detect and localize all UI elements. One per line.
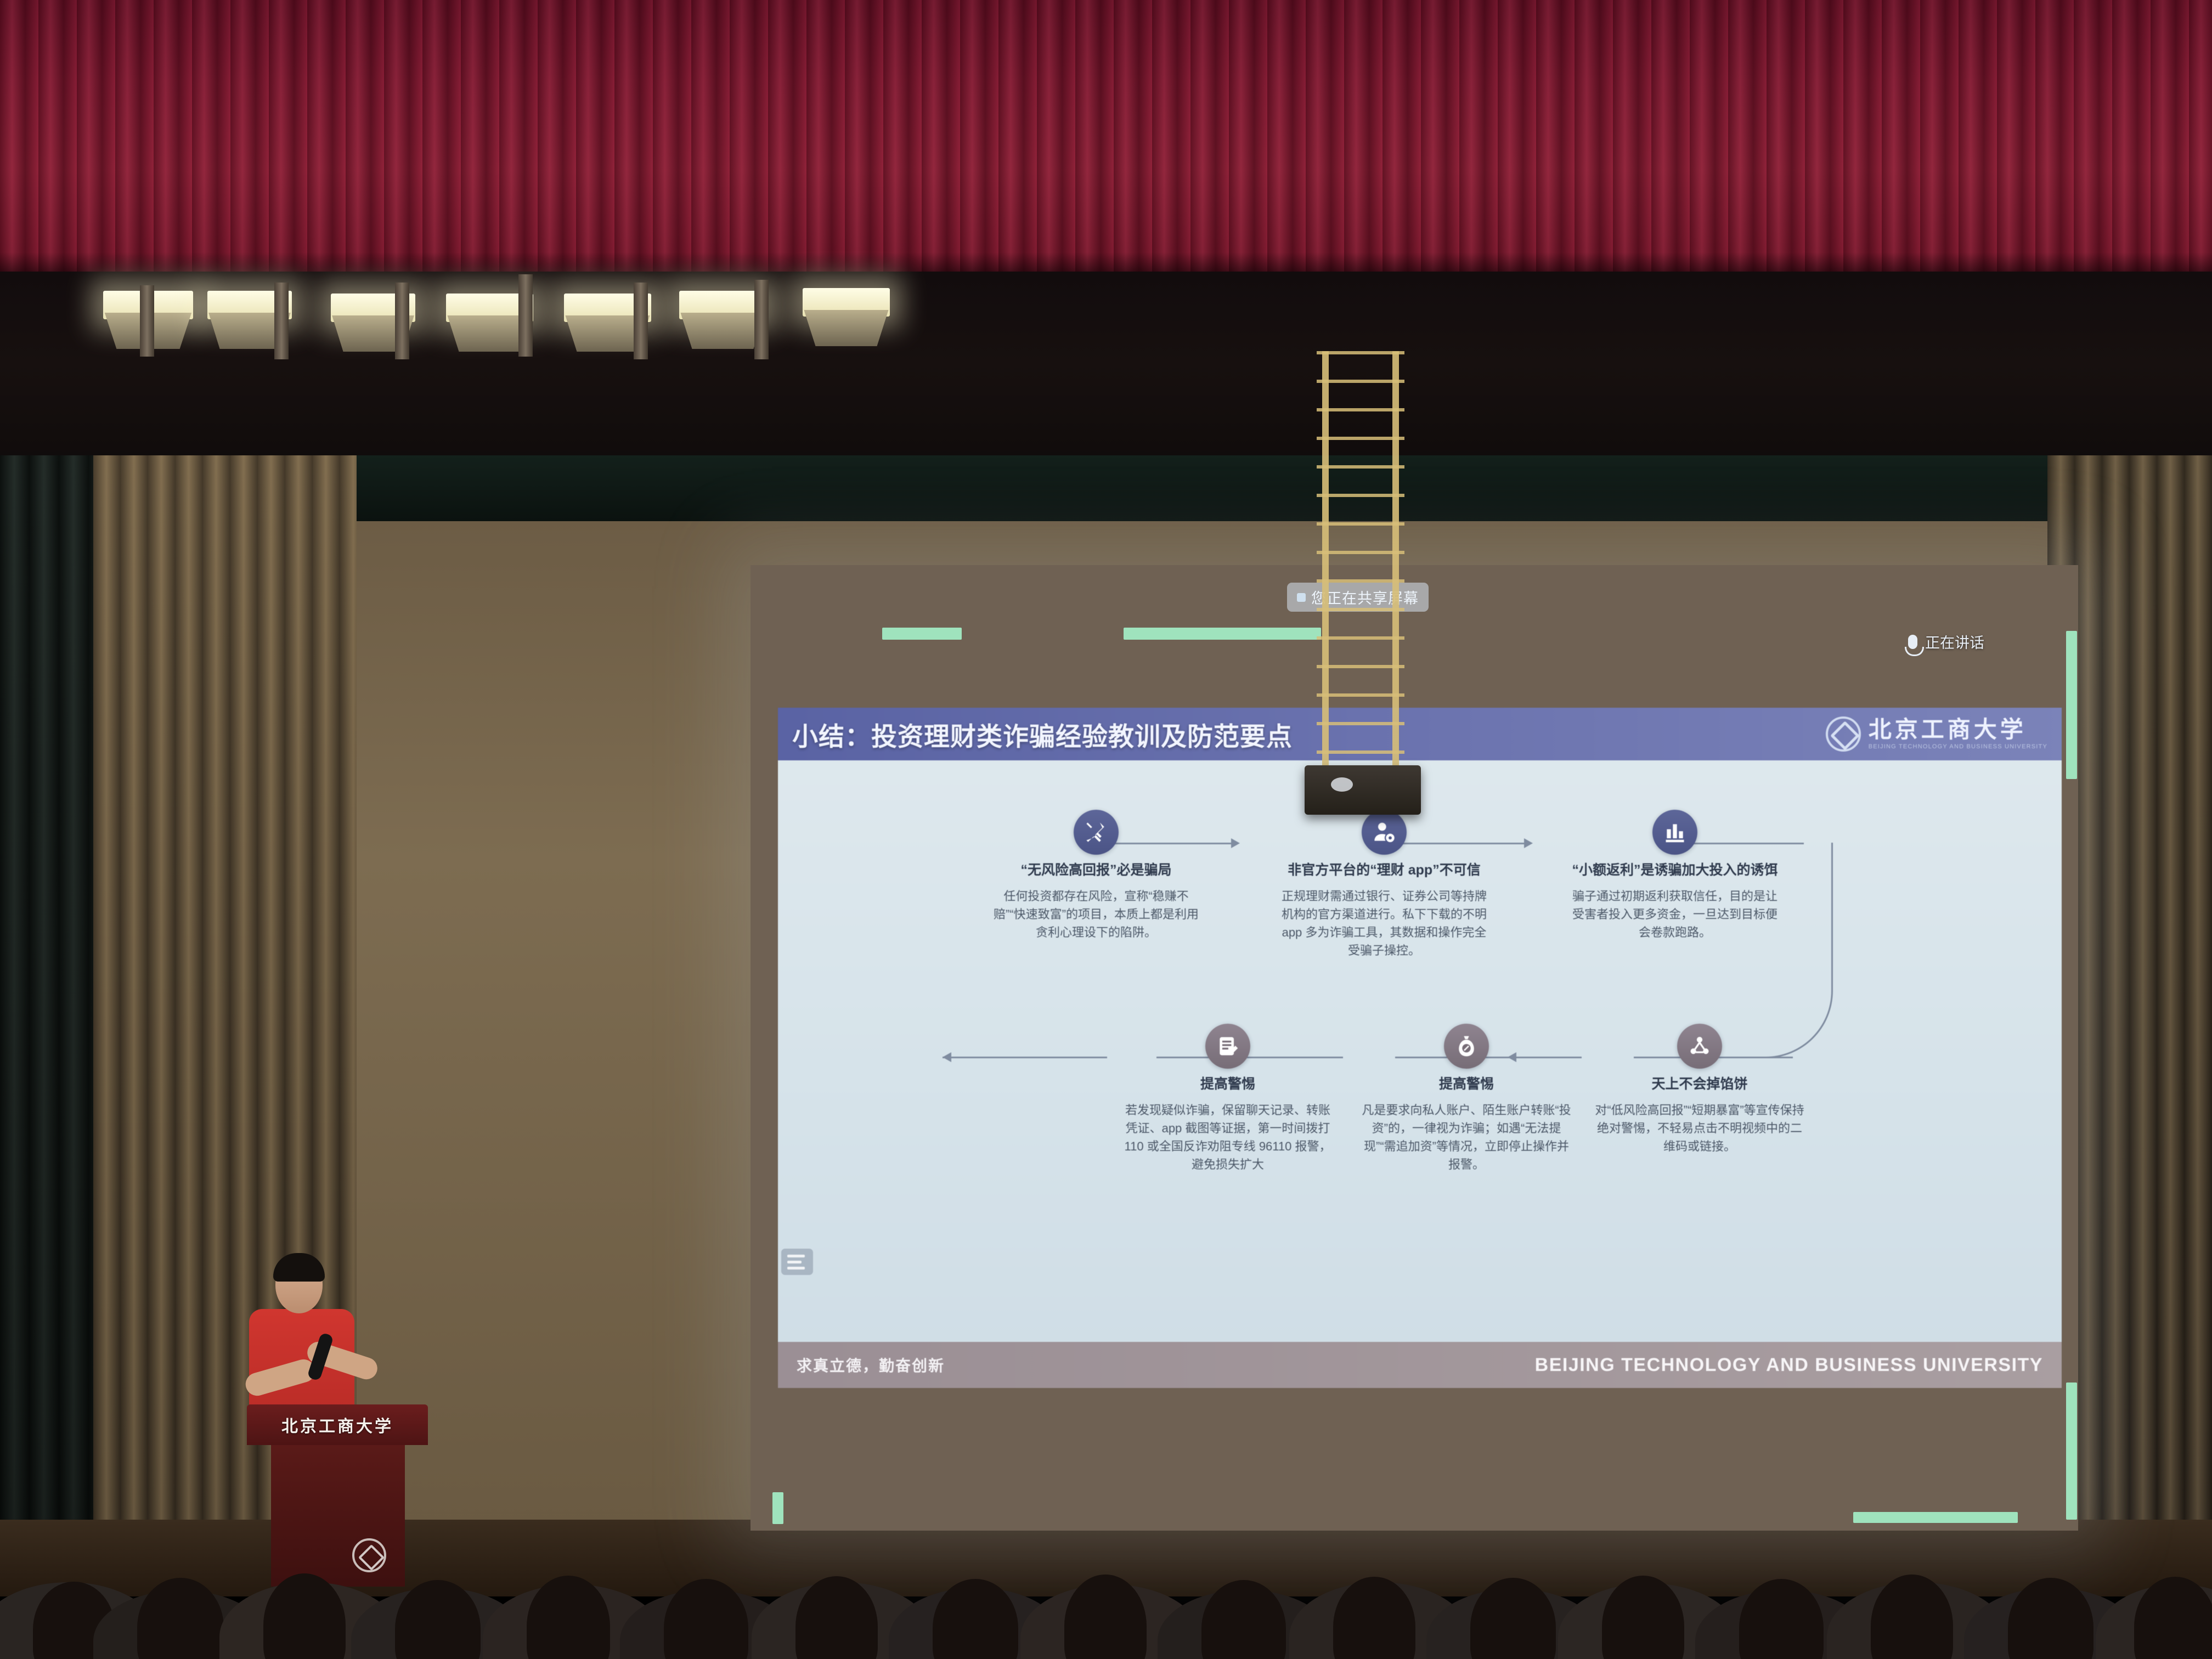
node-heading: 提高警惕 xyxy=(1348,1075,1584,1093)
lectern-nameplate: 北京工商大学 xyxy=(281,1413,393,1437)
truss-pole xyxy=(140,285,154,357)
bar-chart-icon xyxy=(1652,810,1697,855)
truss-pole xyxy=(274,283,289,359)
audience-member xyxy=(1739,1579,1824,1659)
network-share-icon xyxy=(1677,1024,1722,1069)
slide-body: “无风险高回报”必是骗局 任何投资都存在风险，宣称“稳赚不赔”“快速致富”的项目… xyxy=(778,760,2062,1342)
audience-member xyxy=(1201,1580,1286,1659)
node-heading: 非官方平台的“理财 app”不可信 xyxy=(1266,861,1502,879)
node-heading: “无风险高回报”必是骗局 xyxy=(978,861,1214,879)
slide-brand: 北京工商大学 BEIJING TECHNOLOGY AND BUSINESS U… xyxy=(1826,716,2047,752)
audience xyxy=(0,1494,2212,1659)
node-heading: 天上不会掉馅饼 xyxy=(1582,1075,1818,1093)
audience-member xyxy=(2008,1578,2093,1659)
lectern-top: 北京工商大学 xyxy=(247,1404,428,1445)
tools-icon xyxy=(1074,810,1119,855)
node-body: 骗子通过初期返利获取信任，目的是让受害者投入更多资金，一旦达到目标便会卷款跑路。 xyxy=(1557,887,1793,941)
stage-top-curtain xyxy=(0,0,2212,274)
node-body: 正规理财需通过银行、证券公司等持牌机构的官方渠道进行。私下下载的不明 app 多… xyxy=(1266,887,1502,960)
speaking-indicator: 正在讲话 xyxy=(1908,631,1984,652)
share-border-accent-right xyxy=(2066,631,2077,779)
truss-pole xyxy=(518,274,533,357)
flow-arrow-icon xyxy=(943,1052,951,1062)
stage-light xyxy=(798,283,894,348)
slide-header: 小结：投资理财类诈骗经验教训及防范要点 北京工商大学 BEIJING TECHN… xyxy=(778,708,2062,760)
microphone-icon xyxy=(1908,635,1917,649)
slide-node: “无风险高回报”必是骗局 任何投资都存在风险，宣称“稳赚不赔”“快速致富”的项目… xyxy=(978,810,1214,941)
audience-member xyxy=(1470,1578,1556,1659)
stage-valance xyxy=(165,455,2063,521)
projector-mount-rail xyxy=(1317,351,1404,768)
projector-rig xyxy=(1317,351,1404,785)
slide-footer: 求真立德，勤奋创新 BEIJING TECHNOLOGY AND BUSINES… xyxy=(778,1342,2062,1388)
slide-node: 非官方平台的“理财 app”不可信 正规理财需通过银行、证券公司等持牌机构的官方… xyxy=(1266,810,1502,960)
university-seal-icon xyxy=(1826,716,1861,752)
slide-title: 小结：投资理财类诈骗经验教训及防范要点 xyxy=(792,715,1293,753)
slide-node: 天上不会掉馅饼 对“低风险高回报”“短期暴富”等宣传保持绝对警惕，不轻易点击不明… xyxy=(1582,1024,1818,1155)
slide-node: 提高警惕 若发现疑似诈骗，保留聊天记录、转账凭证、app 截图等证据，第一时间拨… xyxy=(1110,1024,1346,1173)
brand-name-en: BEIJING TECHNOLOGY AND BUSINESS UNIVERSI… xyxy=(1869,744,2047,750)
node-heading: “小额返利”是诱骗加大投入的诱饵 xyxy=(1557,861,1793,879)
node-heading: 提高警惕 xyxy=(1110,1075,1346,1093)
node-body: 凡是要求向私人账户、陌生账户转账“投资”的，一律视为诈骗；如遇“无法提现”“需追… xyxy=(1348,1101,1584,1173)
speaking-label: 正在讲话 xyxy=(1925,631,1984,652)
user-settings-icon xyxy=(1362,810,1407,855)
brand-name-cn: 北京工商大学 xyxy=(1869,718,2047,741)
auditorium-photo: 小结：投资理财类诈骗经验教训及防范要点 北京工商大学 BEIJING TECHN… xyxy=(0,0,2212,1659)
truss-pole xyxy=(634,283,648,359)
money-bag-icon xyxy=(1444,1024,1489,1069)
audience-member xyxy=(664,1579,748,1659)
screen-share-icon xyxy=(1297,593,1306,602)
share-border-accent-top-left xyxy=(882,628,962,640)
footer-motto-cn: 求真立德，勤奋创新 xyxy=(797,1354,945,1376)
slide-node: “小额返利”是诱骗加大投入的诱饵 骗子通过初期返利获取信任，目的是让受害者投入更… xyxy=(1557,810,1793,941)
share-border-accent-top-right xyxy=(1124,628,1321,640)
node-body: 若发现疑似诈骗，保留聊天记录、转账凭证、app 截图等证据，第一时间拨打 110… xyxy=(1110,1101,1346,1173)
truss-pole xyxy=(754,280,769,359)
flow-arrow-icon xyxy=(1524,838,1533,848)
ceiling-projector xyxy=(1305,765,1421,815)
node-body: 对“低风险高回报”“短期暴富”等宣传保持绝对警惕，不轻易点击不明视频中的二维码或… xyxy=(1582,1101,1818,1155)
list-menu-icon xyxy=(781,1249,813,1275)
node-body: 任何投资都存在风险，宣称“稳赚不赔”“快速致富”的项目，本质上都是利用贪利心理设… xyxy=(978,887,1214,941)
truss-pole xyxy=(395,283,409,359)
audience-member xyxy=(137,1578,224,1659)
footer-motto-en: BEIJING TECHNOLOGY AND BUSINESS UNIVERSI… xyxy=(1535,1355,2043,1376)
document-edit-icon xyxy=(1205,1024,1250,1069)
flow-connector xyxy=(943,1057,1107,1058)
slide-node: 提高警惕 凡是要求向私人账户、陌生账户转账“投资”的，一律视为诈骗；如遇“无法提… xyxy=(1348,1024,1584,1173)
presenter-hair xyxy=(273,1253,325,1282)
flow-arrow-icon xyxy=(1231,838,1240,848)
